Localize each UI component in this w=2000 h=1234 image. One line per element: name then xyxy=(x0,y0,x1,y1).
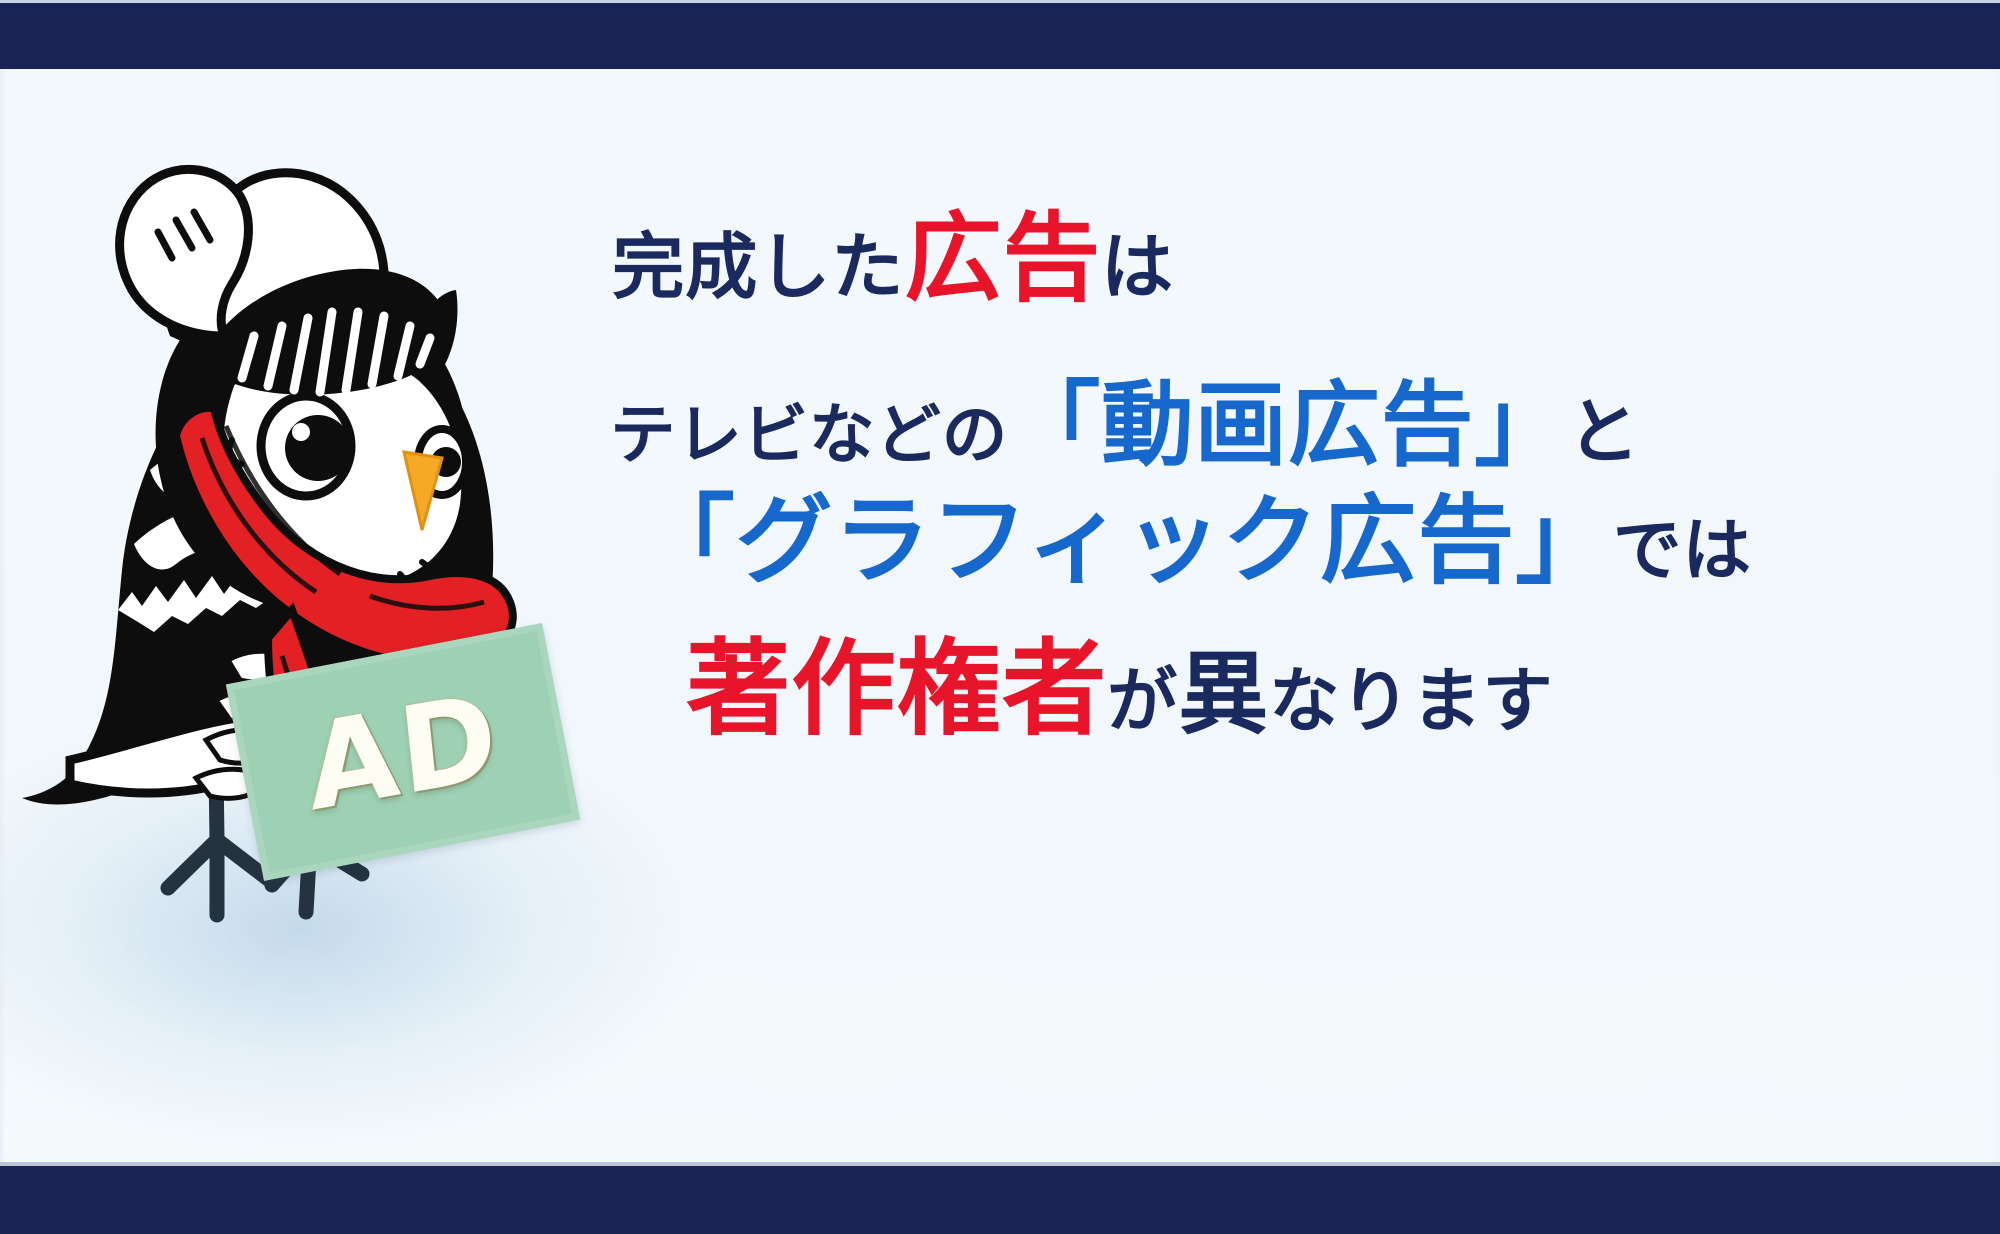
owl-mascot-illustration: AD xyxy=(10,140,590,1020)
caption-line-1-seg-3: は xyxy=(1101,226,1174,310)
top-navy-band xyxy=(0,3,2000,69)
owl-svg xyxy=(10,140,590,1020)
caption-line-1: 完成した広告は xyxy=(600,210,1970,307)
caption-line-4-seg-3: 異 xyxy=(1178,642,1269,747)
caption-line-4: 著作権者が異なります xyxy=(600,635,1970,745)
owl-eye-left xyxy=(261,396,351,496)
caption-line-2-seg-1: テレビなどの xyxy=(610,397,1008,473)
caption-line-3-seg-2: では xyxy=(1613,511,1752,591)
slide-canvas: AD 完成した広告は テレビなどの「動画広告」と 「グラフィック広告」では 著作… xyxy=(0,0,2000,1234)
caption-line-2-seg-2: 「動画広告」 xyxy=(1008,371,1567,479)
caption-line-4-seg-1: 著作権者 xyxy=(686,628,1107,750)
caption-line-3: 「グラフィック広告」では xyxy=(600,490,1970,592)
caption-text-block: 完成した広告は テレビなどの「動画広告」と 「グラフィック広告」では 著作権者が… xyxy=(600,210,1970,745)
caption-line-2-seg-3: と xyxy=(1567,391,1640,475)
panel-right-edge xyxy=(1990,69,2000,1162)
ad-sign-label: AD xyxy=(300,666,505,837)
caption-line-4-seg-4: なります xyxy=(1269,660,1553,742)
caption-line-1-seg-1: 完成した xyxy=(612,226,904,310)
panel-left-edge xyxy=(0,69,6,1162)
bottom-navy-band xyxy=(0,1166,2000,1234)
caption-line-3-seg-1: 「グラフィック広告」 xyxy=(638,484,1613,597)
caption-line-2: テレビなどの「動画広告」と xyxy=(600,379,1970,471)
caption-line-1-seg-2: 広告 xyxy=(904,202,1101,315)
caption-line-4-seg-2: が xyxy=(1107,660,1178,742)
